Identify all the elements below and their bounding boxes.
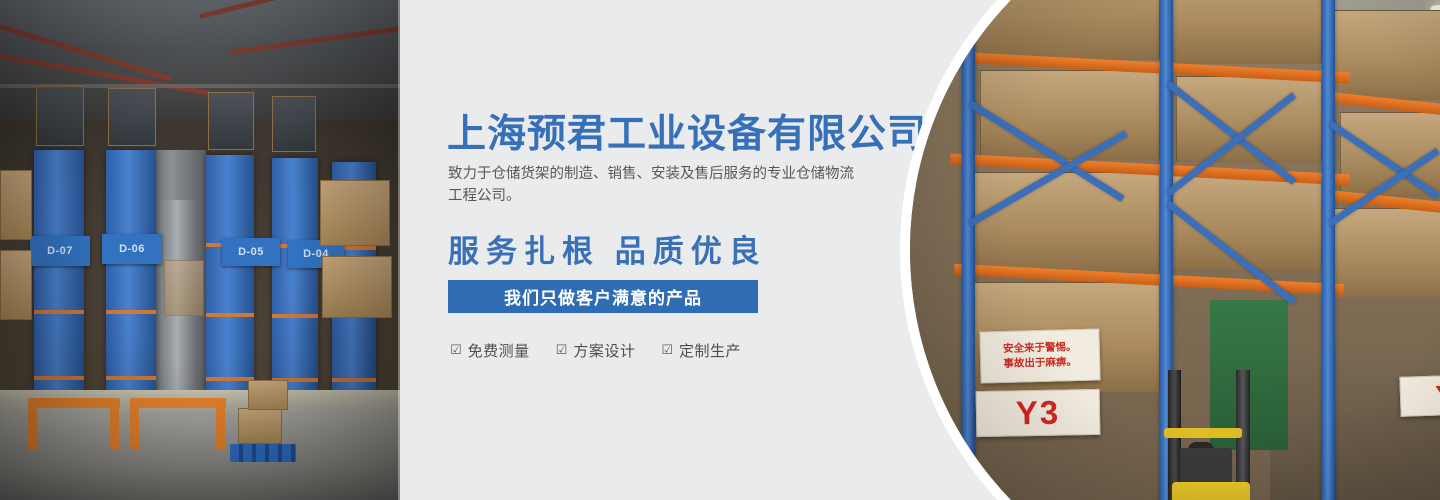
- stored-goods: [36, 86, 84, 146]
- stored-goods: [108, 88, 156, 146]
- rack-upright: [28, 398, 37, 450]
- safety-sign-line2: 事故出于麻痹。: [1003, 355, 1077, 372]
- carton-box: [238, 408, 282, 444]
- pallet-load: [1334, 10, 1440, 100]
- check-icon: ☑: [450, 344, 462, 357]
- stored-goods: [322, 256, 392, 318]
- stored-goods: [208, 92, 254, 150]
- rack-label-text: D-07: [47, 245, 73, 257]
- pallet-load: [980, 70, 1160, 160]
- rack-column: [106, 150, 156, 420]
- stored-goods: [0, 170, 32, 240]
- pallet-load: [970, 0, 1160, 60]
- feature-label: 免费测量: [468, 340, 530, 361]
- rack-label-text: D-05: [238, 246, 264, 258]
- pallet-load: [1172, 0, 1322, 64]
- carton-box: [248, 380, 288, 410]
- right-photo-circle: 安全来于警惕。 事故出于麻痹。 Y3 Y3: [900, 0, 1440, 500]
- company-title: 上海预君工业设备有限公司: [447, 103, 927, 159]
- check-icon: ☑: [661, 344, 673, 357]
- rack-upright: [110, 398, 119, 450]
- safety-sign: 安全来于警惕。 事故出于麻痹。: [979, 328, 1100, 383]
- check-icon: ☑: [556, 344, 568, 357]
- rack-column: [34, 150, 84, 420]
- rack-upright: [130, 398, 139, 450]
- feature-item-custom-production: ☑ 定制生产: [661, 340, 741, 361]
- feature-label: 定制生产: [679, 340, 741, 361]
- feature-item-plan-design: ☑ 方案设计: [556, 340, 636, 361]
- rack-beam: [130, 398, 226, 408]
- banner-text-block: 上海预君工业设备有限公司 致力于仓储货架的制造、销售、安装及售后服务的专业仓储物…: [400, 0, 960, 500]
- stored-goods: [0, 250, 32, 320]
- promise-badge-label: 我们只做客户满意的产品: [504, 284, 702, 309]
- aisle-marker-sign-secondary: Y3: [1399, 373, 1440, 417]
- left-warehouse-photo: D-07 D-06 D-05 D-04: [0, 0, 400, 500]
- forklift-overhead-guard: [1164, 428, 1242, 438]
- rack-label-d06: D-06: [102, 234, 162, 264]
- promise-badge: 我们只做客户满意的产品: [448, 280, 758, 313]
- pallet-load: [974, 172, 1160, 272]
- stored-goods: [320, 180, 390, 246]
- aisle-marker-sign: Y3: [976, 389, 1101, 437]
- right-photo-aisle: [1270, 350, 1440, 500]
- feature-item-free-measure: ☑ 免费测量: [450, 340, 530, 361]
- ceiling-beam: [230, 22, 400, 55]
- aisle-marker-text: Y3: [1015, 394, 1060, 433]
- aisle-marker-text: Y3: [1435, 379, 1440, 411]
- pallet-load: [1334, 208, 1440, 298]
- rack-label-d05: D-05: [222, 238, 280, 266]
- hero-banner: D-07 D-06 D-05 D-04: [0, 0, 1440, 500]
- right-warehouse-photo: 安全来于警惕。 事故出于麻痹。 Y3 Y3: [910, 0, 1440, 500]
- rack-upright: [962, 0, 975, 500]
- stored-goods: [164, 260, 204, 316]
- blue-pallet: [230, 444, 296, 462]
- feature-list: ☑ 免费测量 ☑ 方案设计 ☑ 定制生产: [450, 340, 741, 361]
- rack-label-text: D-06: [119, 243, 145, 255]
- forklift: [1158, 370, 1278, 500]
- company-subtitle: 致力于仓储货架的制造、销售、安装及售后服务的专业仓储物流工程公司。: [448, 163, 863, 207]
- rack-upright: [1322, 0, 1335, 500]
- rack-beam: [28, 398, 120, 408]
- rack-label-d07: D-07: [30, 236, 90, 266]
- rack-column: [206, 155, 254, 420]
- feature-label: 方案设计: [573, 340, 635, 361]
- ceiling-beam: [199, 0, 400, 19]
- company-slogan: 服务扎根 品质优良: [448, 226, 767, 271]
- forklift-body: [1172, 482, 1250, 500]
- rack-upright: [216, 398, 225, 450]
- stored-goods: [272, 96, 316, 152]
